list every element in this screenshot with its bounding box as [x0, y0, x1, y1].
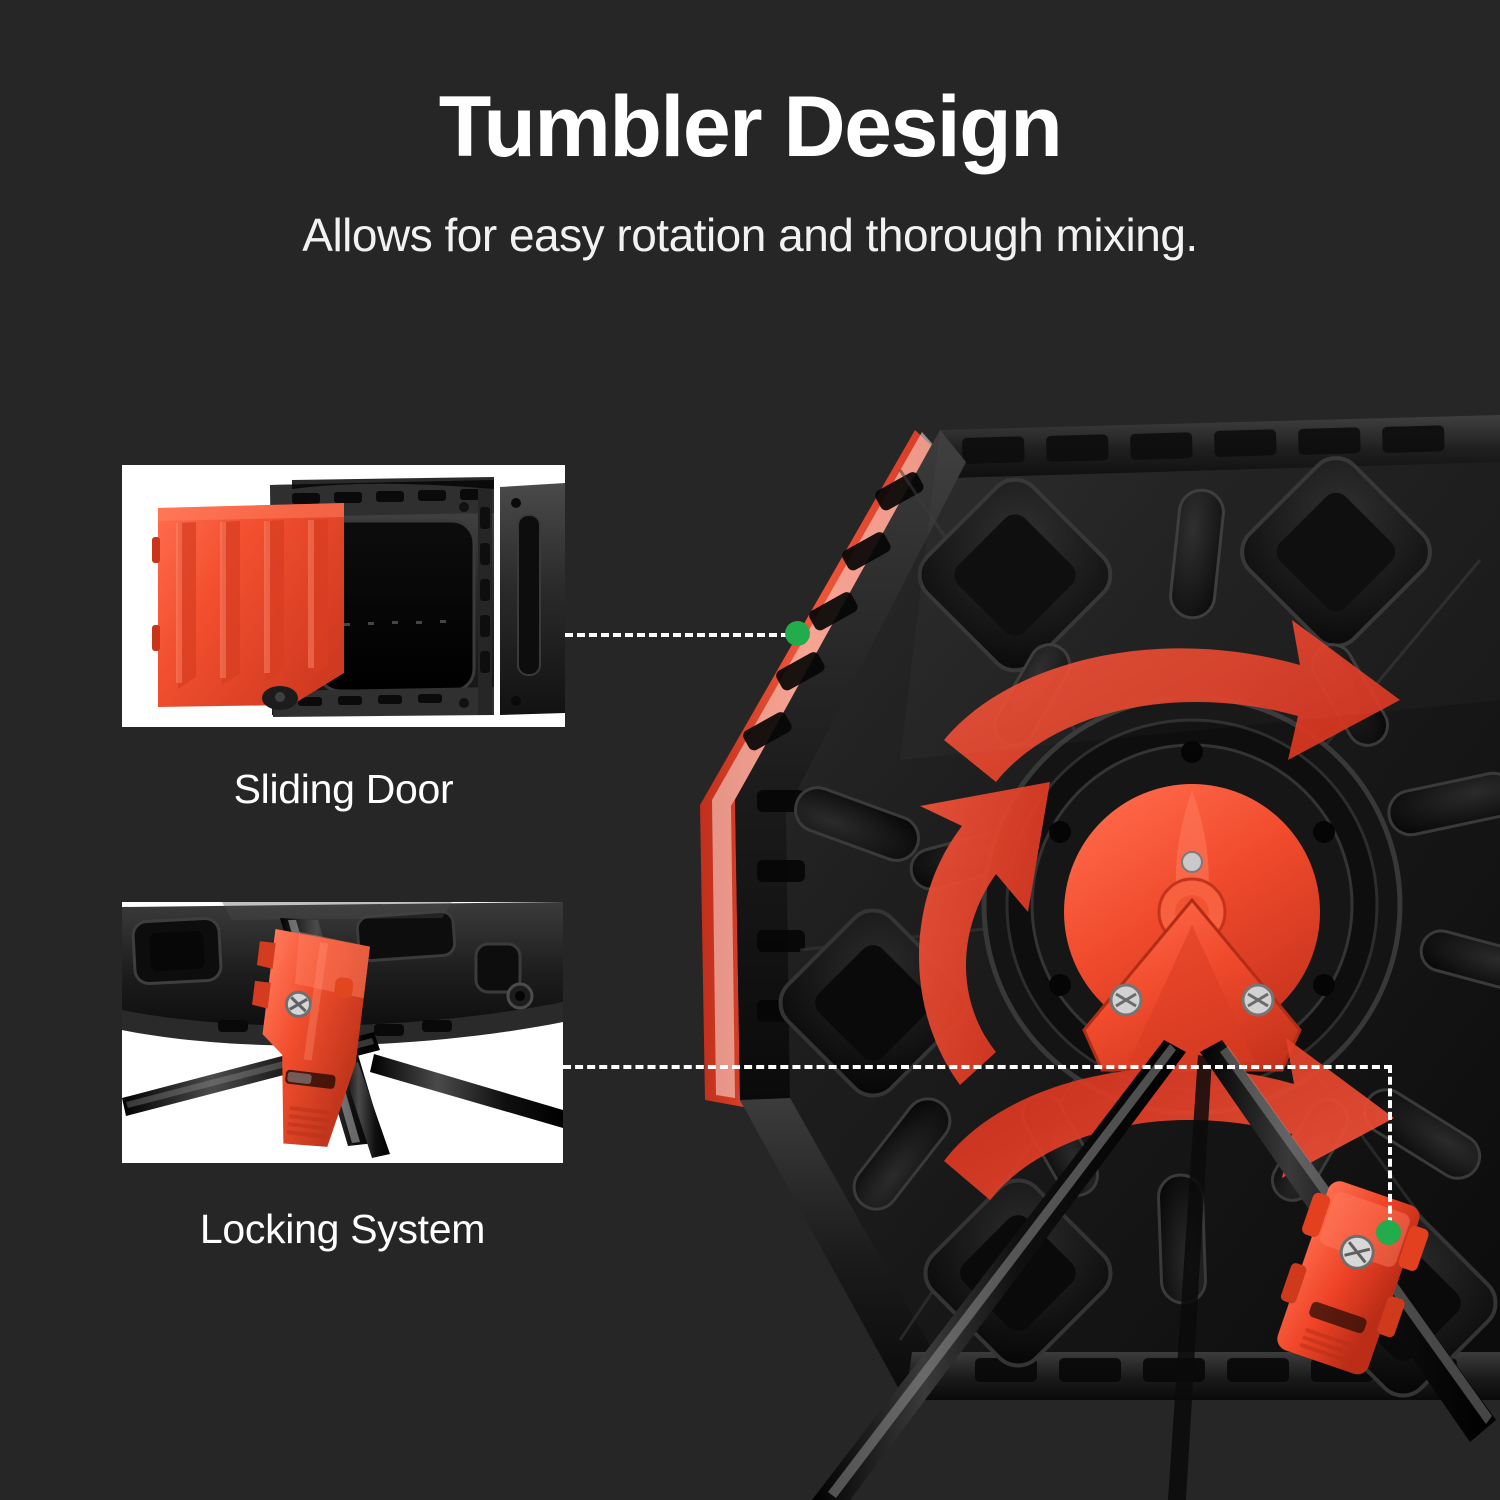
page-title: Tumbler Design — [0, 84, 1500, 170]
callout-card-locking-system[interactable] — [122, 902, 563, 1163]
callout-line-sliding-door — [565, 633, 801, 637]
callout-label-locking-system: Locking System — [122, 1206, 563, 1253]
callout-marker-sliding-door — [785, 621, 810, 646]
callout-card-sliding-door[interactable] — [122, 465, 565, 727]
product-feature-slide: Tumbler Design Allows for easy rotation … — [0, 0, 1500, 1500]
locking-system-photo — [122, 902, 563, 1163]
sliding-door-photo — [122, 465, 565, 727]
callout-label-sliding-door: Sliding Door — [122, 766, 565, 813]
page-subtitle: Allows for easy rotation and thorough mi… — [0, 212, 1500, 258]
callout-line-locking-system-horizontal — [563, 1065, 1392, 1069]
callout-line-locking-system-vertical — [1388, 1065, 1392, 1237]
header: Tumbler Design Allows for easy rotation … — [0, 0, 1500, 258]
callout-marker-locking-system — [1376, 1220, 1401, 1245]
